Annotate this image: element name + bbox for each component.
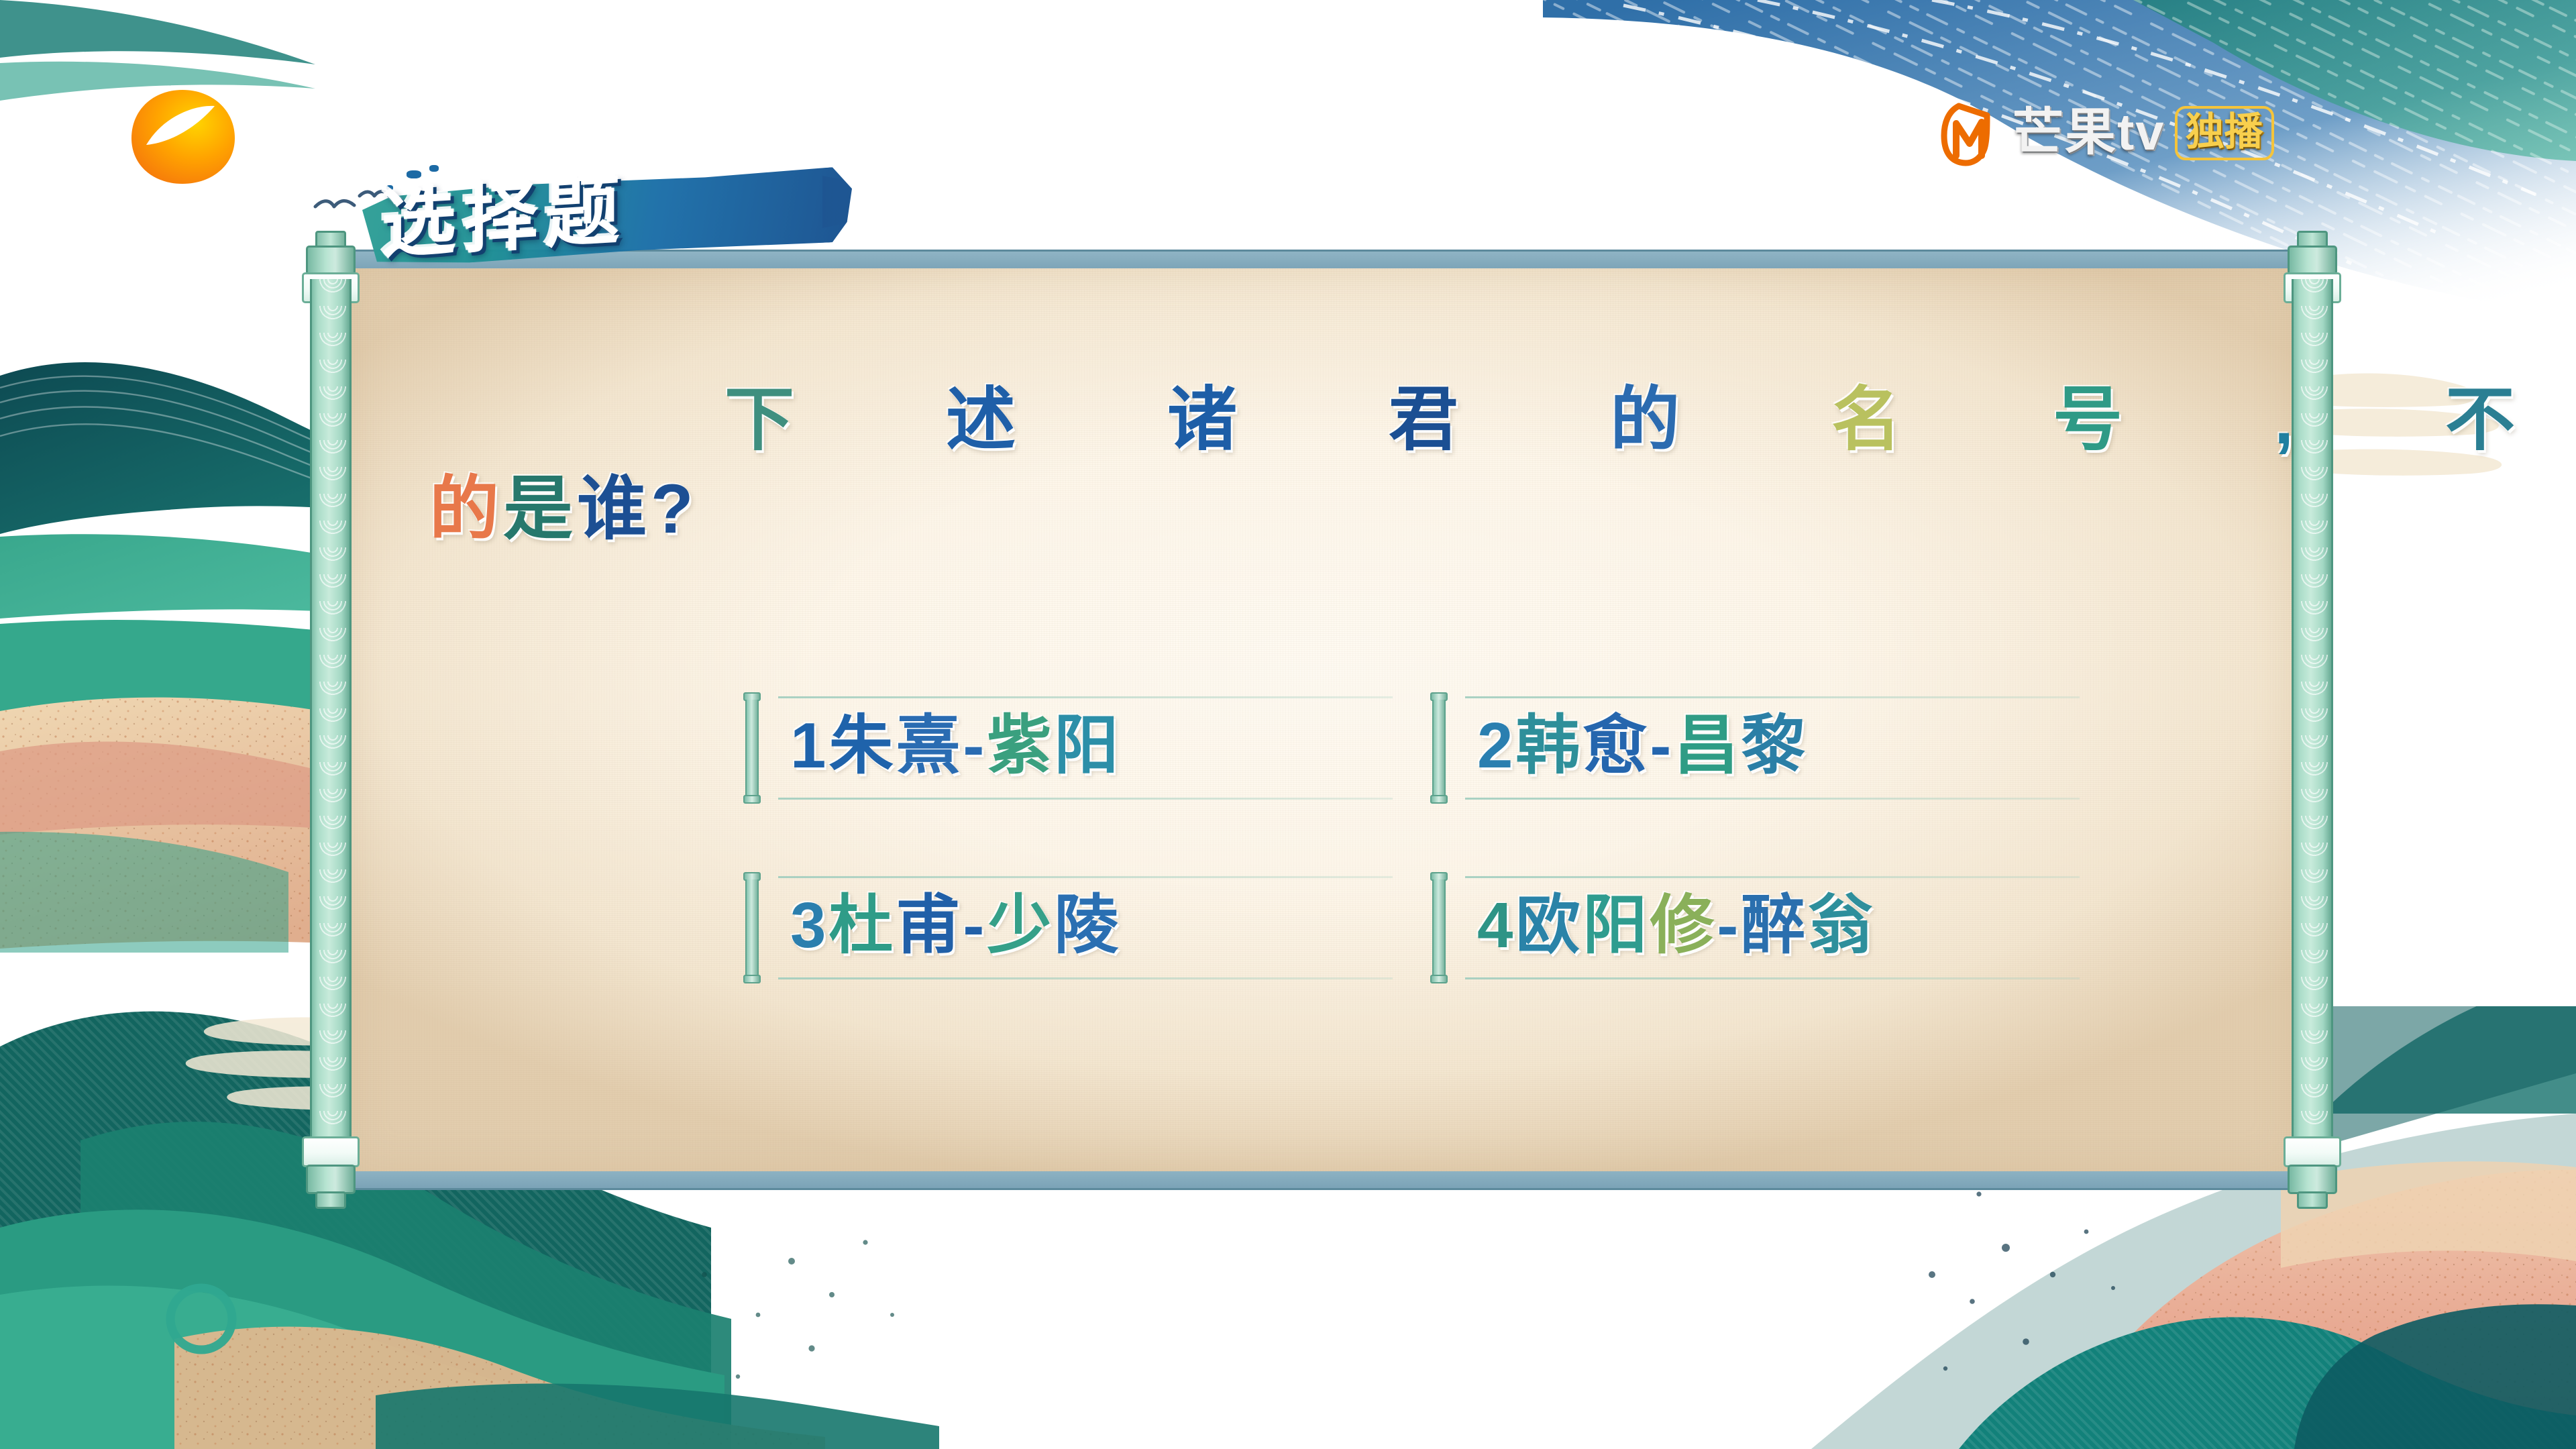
- exclusive-badge: 独播: [2175, 106, 2274, 160]
- rod-band-bottom: [302, 1136, 360, 1167]
- option-rule-top: [1465, 876, 2080, 878]
- mgtv-logo: 芒果tv 独播: [1939, 99, 2274, 166]
- question-line-1: 下述诸君的名号,不是因地而得名号: [429, 376, 2133, 465]
- option-label: 2韩愈-昌黎: [1477, 706, 1808, 786]
- rod-band-bottom: [2284, 1136, 2341, 1167]
- option-rule-top: [778, 696, 1393, 698]
- brush-speck: [429, 165, 439, 172]
- rod-tip-bottom: [2297, 1191, 2328, 1209]
- answer-option-1[interactable]: 1朱熹-紫阳: [743, 691, 1387, 805]
- option-label: 4欧阳修-醉翁: [1477, 885, 1875, 966]
- rod-cap-bottom: [306, 1165, 356, 1194]
- answer-options: 1朱熹-紫阳 2韩愈-昌黎 3杜甫-少陵 4欧阳修-醉翁: [743, 691, 2074, 985]
- option-label: 1朱熹-紫阳: [790, 706, 1121, 786]
- question-line-2: 的是谁?: [429, 465, 2133, 554]
- option-rod-icon: [1430, 692, 1448, 804]
- option-rod-icon: [1430, 872, 1448, 983]
- rod-cap-bottom: [2288, 1165, 2337, 1194]
- answer-option-3[interactable]: 3杜甫-少陵: [743, 871, 1387, 985]
- rod-cap-top: [2288, 246, 2337, 275]
- mgtv-wordmark: 芒果tv: [2012, 107, 2165, 158]
- answer-option-2[interactable]: 2韩愈-昌黎: [1430, 691, 2074, 805]
- option-rod-icon: [743, 692, 761, 804]
- option-rule-top: [778, 876, 1393, 878]
- title-banner: 选择题: [322, 156, 885, 290]
- rod-tip-bottom: [315, 1191, 346, 1209]
- mgtv-m-icon: [1939, 99, 2003, 166]
- option-label: 3杜甫-少陵: [790, 885, 1121, 966]
- title-banner-label: 选择题: [381, 166, 627, 271]
- option-rule-bottom: [1465, 977, 2080, 979]
- rod-shaft: [310, 279, 352, 1161]
- question-text: 下述诸君的名号,不是因地而得名号 的是谁?: [429, 376, 2133, 554]
- scroll-rod-left: [306, 233, 356, 1206]
- option-rule-top: [1465, 696, 2080, 698]
- option-rod-icon: [743, 872, 761, 983]
- brush-speck: [407, 170, 421, 178]
- option-rule-bottom: [778, 977, 1393, 979]
- option-rule-bottom: [1465, 798, 2080, 800]
- mango-logo-icon: [126, 86, 239, 186]
- option-rule-bottom: [778, 798, 1393, 800]
- answer-option-4[interactable]: 4欧阳修-醉翁: [1430, 871, 2074, 985]
